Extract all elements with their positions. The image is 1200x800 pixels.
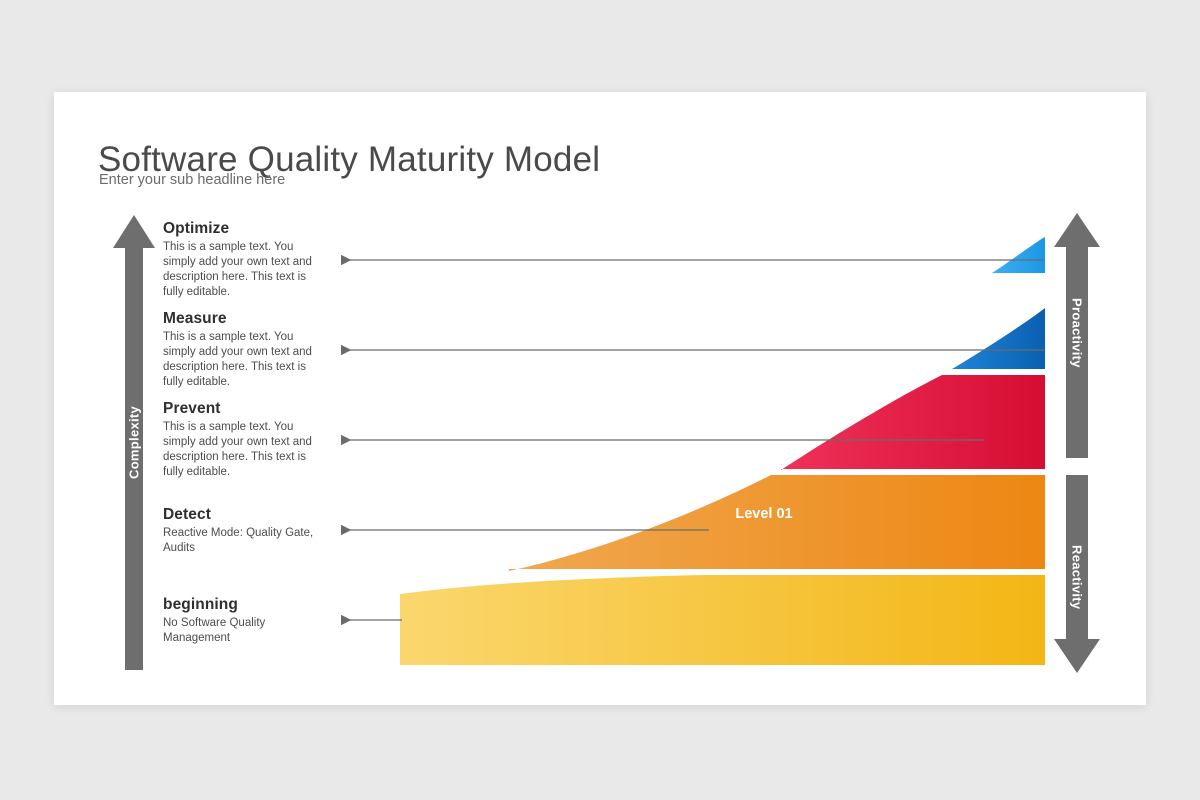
step-desc-measure: This is a sample text. You simply add yo… [163, 330, 323, 390]
step-measure[interactable]: Measure This is a sample text. You simpl… [163, 310, 323, 390]
complexity-arrow-icon [113, 215, 155, 670]
step-desc-prevent: This is a sample text. You simply add yo… [163, 420, 323, 480]
step-title-detect: Detect [163, 506, 323, 524]
step-title-measure: Measure [163, 310, 323, 328]
step-title-beginning: beginning [163, 596, 323, 614]
step-desc-detect: Reactive Mode: Quality Gate, Audits [163, 526, 323, 556]
step-desc-optimize: This is a sample text. You simply add yo… [163, 240, 323, 300]
step-title-prevent: Prevent [163, 400, 323, 418]
step-optimize[interactable]: Optimize This is a sample text. You simp… [163, 220, 323, 300]
step-beginning[interactable]: beginning No Software Quality Management [163, 596, 323, 646]
step-prevent[interactable]: Prevent This is a sample text. You simpl… [163, 400, 323, 480]
step-desc-beginning: No Software Quality Management [163, 616, 323, 646]
step-detect[interactable]: Detect Reactive Mode: Quality Gate, Audi… [163, 506, 323, 556]
slide-card: Software Quality Maturity Model Enter yo… [54, 92, 1146, 705]
proactivity-reactivity-arrow-icon [1054, 213, 1100, 673]
step-title-optimize: Optimize [163, 220, 323, 238]
diagram-stage: Level 01 Level 02 Level 03 Level 04 Leve… [54, 92, 1146, 705]
